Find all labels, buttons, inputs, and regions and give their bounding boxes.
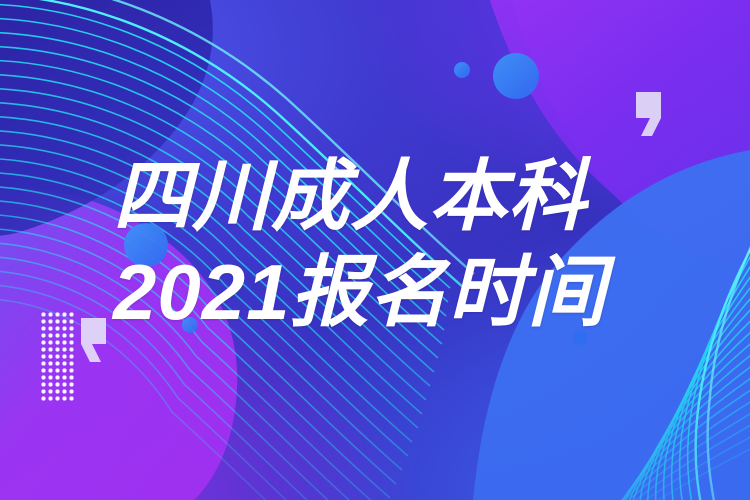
quote-mark-top-right [636, 92, 661, 136]
title-line-1: 四川成人本科 [113, 148, 683, 244]
title-line-2: 2021报名时间 [113, 244, 683, 340]
promo-banner: 四川成人本科 2021报名时间 [0, 0, 750, 500]
dot-grid-bottom-left [40, 311, 74, 401]
circle-large-top [493, 53, 539, 99]
banner-title: 四川成人本科 2021报名时间 [113, 148, 683, 340]
circle-small-top [454, 62, 470, 78]
quote-mark-bottom-left [81, 318, 106, 362]
